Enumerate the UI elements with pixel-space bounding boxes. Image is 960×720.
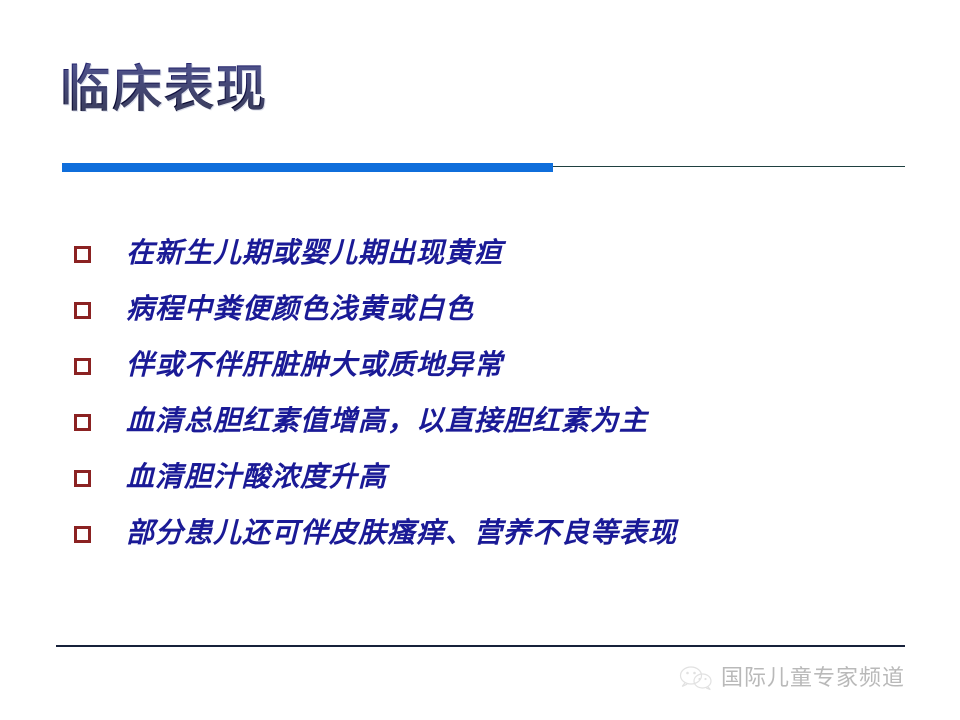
- list-item-label: 在新生儿期或婴儿期出现黄疸: [126, 237, 503, 271]
- page-title: 临床表现: [60, 58, 268, 120]
- list-item: 在新生儿期或婴儿期出现黄疸: [74, 226, 904, 282]
- slide-canvas: 临床表现 在新生儿期或婴儿期出现黄疸 病程中粪便颜色浅黄或白色 伴或不伴肝脏肿大…: [0, 0, 960, 720]
- hollow-square-icon: [74, 414, 91, 431]
- list-item: 病程中粪便颜色浅黄或白色: [74, 282, 904, 338]
- header-divider: [62, 163, 905, 172]
- list-item: 伴或不伴肝脏肿大或质地异常: [74, 338, 904, 394]
- list-item-label: 血清胆汁酸浓度升高: [126, 461, 387, 495]
- list-item: 血清胆汁酸浓度升高: [74, 450, 904, 506]
- footer-divider: [56, 645, 905, 647]
- wechat-icon: [679, 665, 713, 691]
- hollow-square-icon: [74, 526, 91, 543]
- footer-watermark: 国际儿童专家频道: [679, 662, 905, 694]
- header-divider-accent-bar: [62, 163, 553, 172]
- hollow-square-icon: [74, 246, 91, 263]
- list-item: 部分患儿还可伴皮肤瘙痒、营养不良等表现: [74, 506, 904, 562]
- hollow-square-icon: [74, 358, 91, 375]
- list-item-label: 病程中粪便颜色浅黄或白色: [126, 293, 474, 327]
- list-item-label: 血清总胆红素值增高，以直接胆红素为主: [126, 405, 648, 439]
- list-item-label: 部分患儿还可伴皮肤瘙痒、营养不良等表现: [126, 517, 677, 551]
- footer-label: 国际儿童专家频道: [721, 665, 905, 691]
- list-item: 血清总胆红素值增高，以直接胆红素为主: [74, 394, 904, 450]
- hollow-square-icon: [74, 470, 91, 487]
- clinical-manifestations-list: 在新生儿期或婴儿期出现黄疸 病程中粪便颜色浅黄或白色 伴或不伴肝脏肿大或质地异常…: [74, 226, 904, 562]
- list-item-label: 伴或不伴肝脏肿大或质地异常: [126, 349, 503, 383]
- hollow-square-icon: [74, 302, 91, 319]
